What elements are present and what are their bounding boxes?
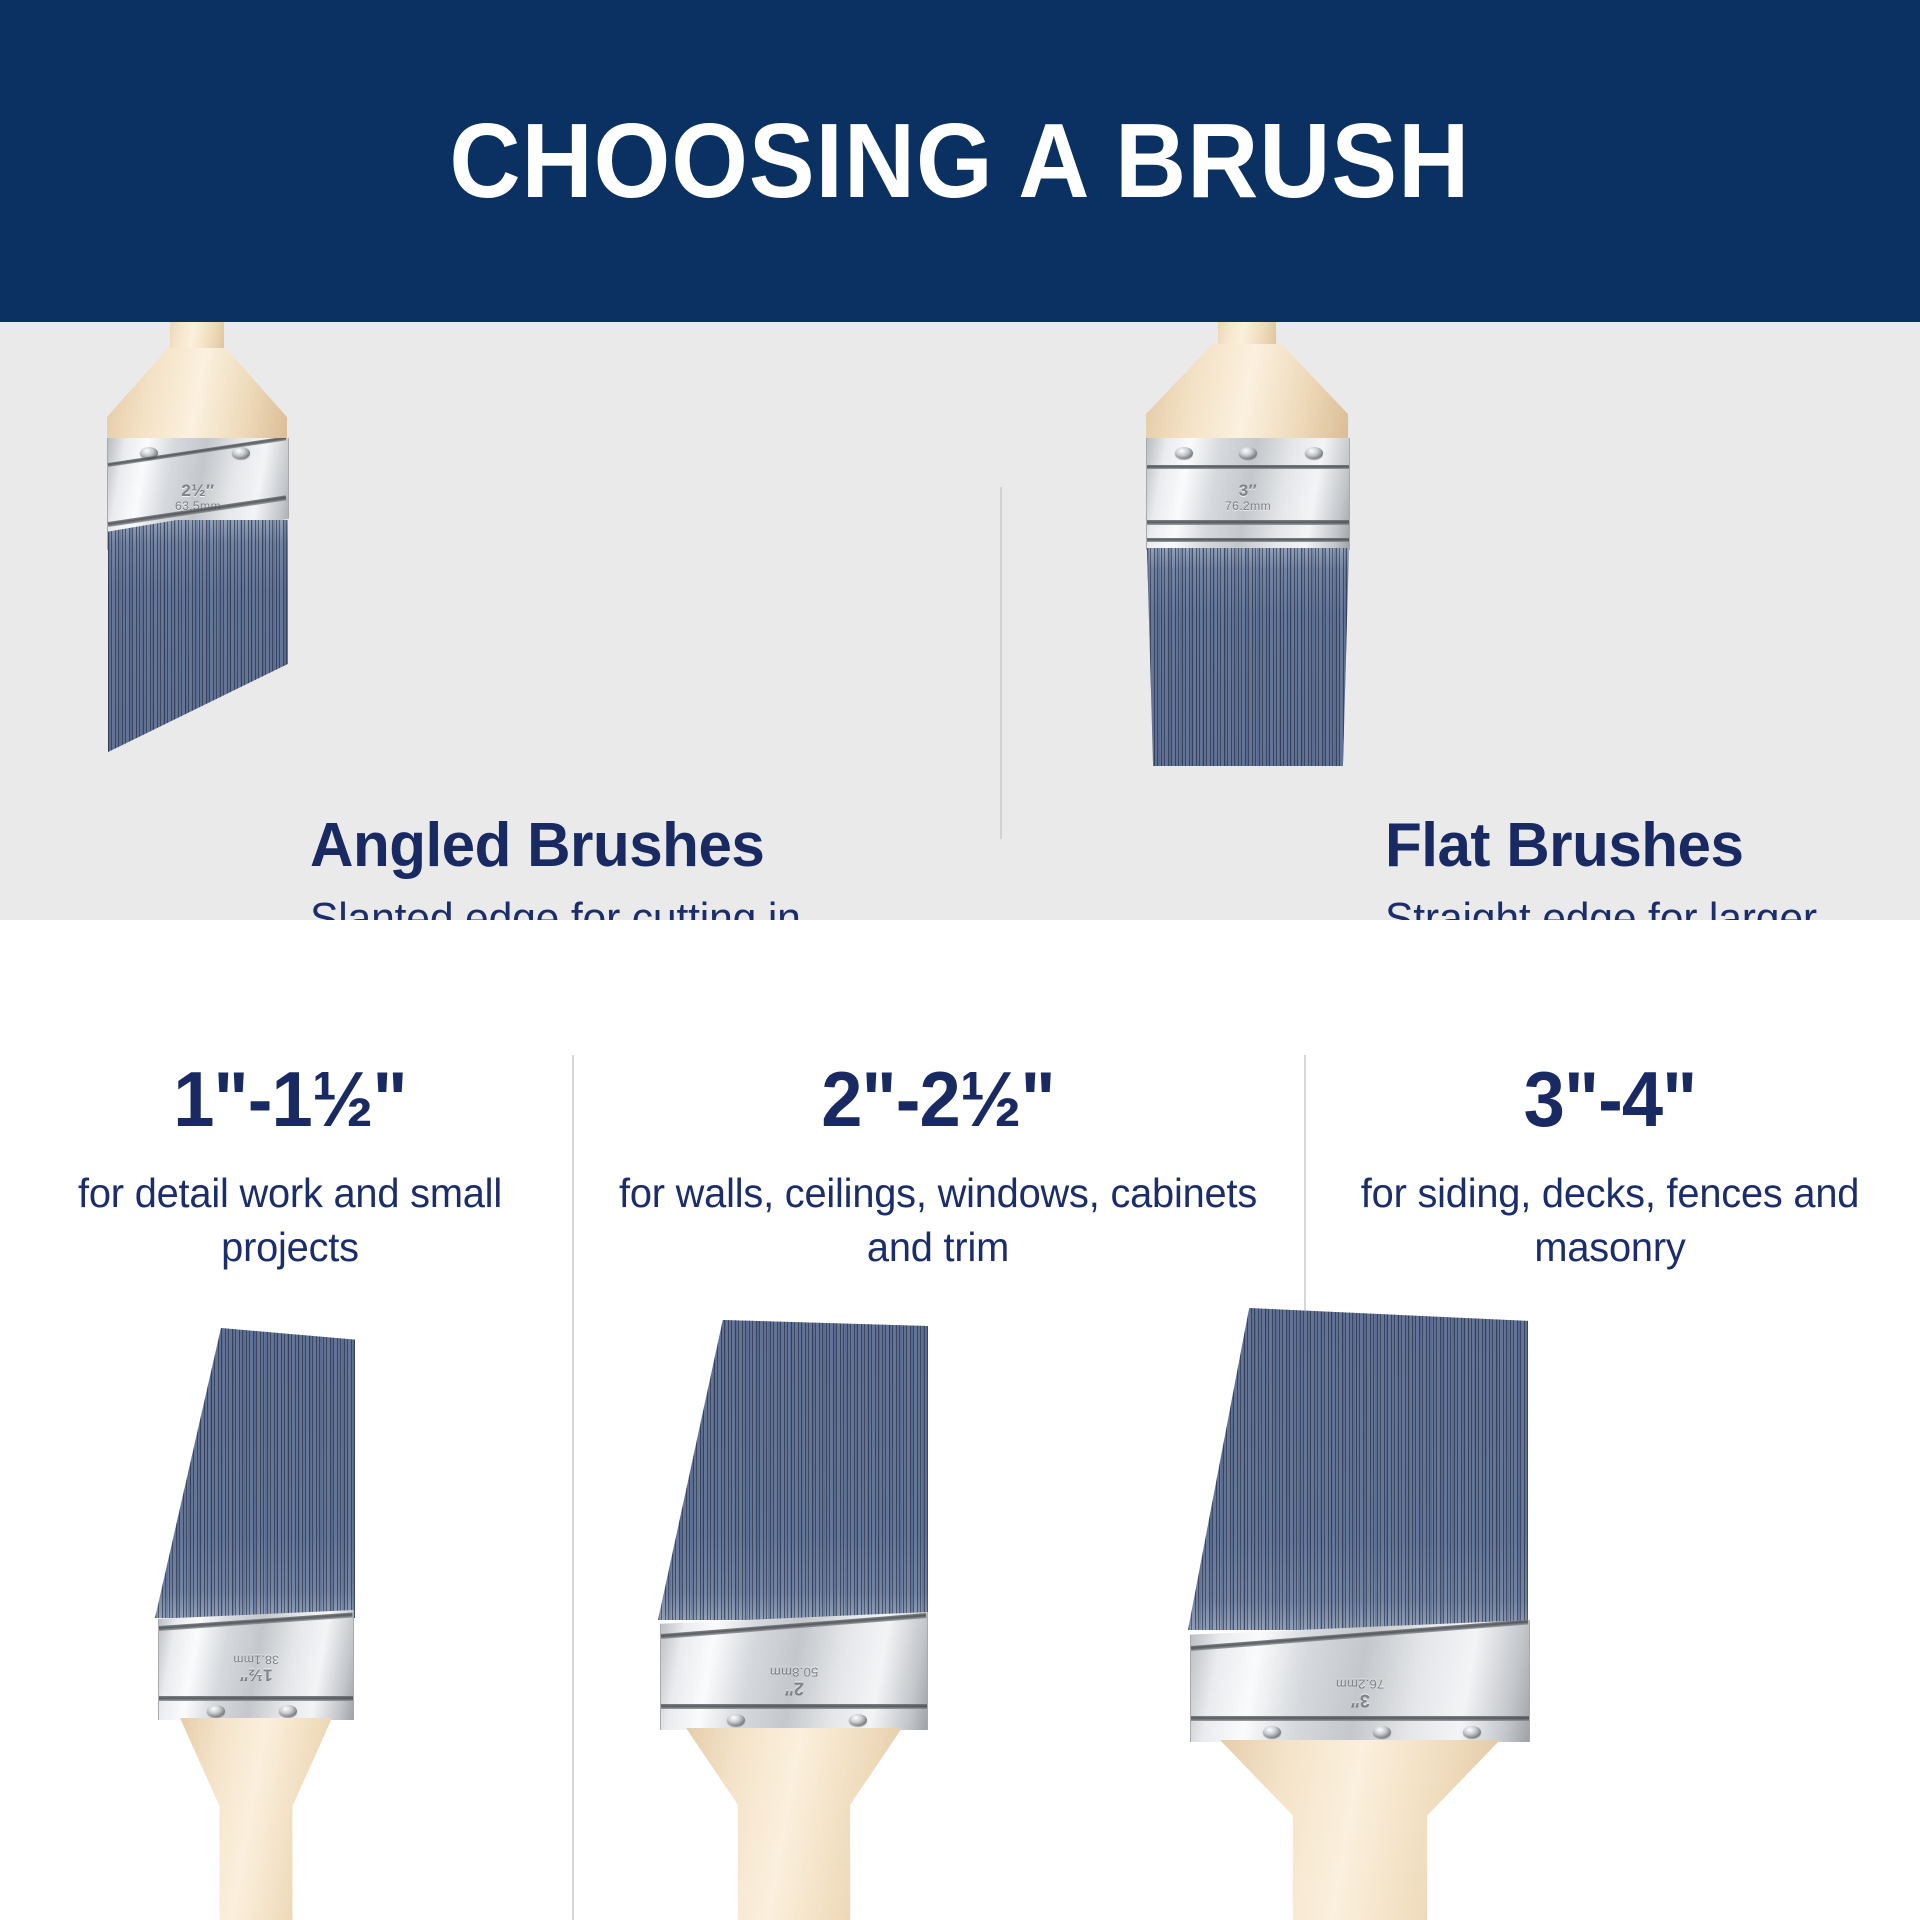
brush-handle [1220, 1740, 1500, 1920]
page-title: CHOOSING A BRUSH [450, 108, 1471, 214]
ferrule-band [1147, 538, 1349, 542]
ferrule-band [1147, 465, 1349, 469]
ferrule-rivet [1463, 1726, 1481, 1738]
flat-brush-image: 3″ 76.2mm [1090, 322, 1390, 768]
ferrule-metric-text: 76.2mm [1191, 1676, 1529, 1690]
ferrule-rivet [849, 1714, 867, 1726]
brush-types-section: 2½″ 63.5mm Angled Brushes Slanted edge f… [0, 322, 1920, 920]
ferrule-metric-text: 76.2mm [1147, 500, 1349, 513]
ferrule-metric-text: 50.8mm [661, 1664, 927, 1678]
flat-brushes-description: Straight edge for larger areas like wall… [1385, 891, 1889, 920]
ferrule-rivet [1263, 1726, 1281, 1738]
ferrule-size-text: 3″ [1239, 481, 1258, 500]
header-banner: CHOOSING A BRUSH [0, 0, 1920, 322]
size-label-small: 1"-1½" [53, 1060, 528, 1138]
angled-brushes-block: Angled Brushes Slanted edge for cutting … [310, 814, 930, 920]
ferrule-stamp: 3″ 76.2mm [1147, 482, 1349, 514]
brush-bristles [1188, 1308, 1528, 1630]
infographic-page: CHOOSING A BRUSH 2½″ 63.5mm [0, 0, 1920, 1920]
size-description-small: for detail work and small projects [48, 1166, 533, 1274]
ferrule-rivet [727, 1714, 745, 1726]
brush-ferrule: 3″ 76.2mm [1146, 438, 1350, 550]
ferrule-rivet [207, 1705, 225, 1717]
size-column-large: 3"-4" for siding, decks, fences and maso… [1330, 1060, 1890, 1274]
size-label-medium: 2"-2½" [617, 1060, 1259, 1138]
ferrule-rivet [1239, 447, 1257, 459]
types-vertical-divider [1000, 487, 1002, 839]
ferrule-size-text: 2½″ [181, 481, 214, 500]
brush-sizes-section: 1"-1½" for detail work and small project… [0, 920, 1920, 1920]
brush-handle [686, 1728, 902, 1920]
angled-brush-image: 2½″ 63.5mm [60, 322, 330, 768]
ferrule-size-text: 2″ [784, 1678, 804, 1698]
flat-brushes-heading: Flat Brushes [1385, 814, 1889, 877]
ferrule-metric-text: 38.1mm [159, 1652, 353, 1665]
brush-image-small: 1½″ 38.1mm [140, 1328, 440, 1920]
ferrule-band [159, 1696, 353, 1701]
brush-neck [107, 348, 287, 444]
ferrule-size-text: 1½″ [239, 1666, 272, 1685]
brush-bristles [155, 1328, 355, 1618]
size-description-large: for siding, decks, fences and masonry [1338, 1166, 1881, 1274]
ferrule-band [108, 436, 287, 467]
size-column-medium: 2"-2½" for walls, ceilings, windows, cab… [600, 1060, 1276, 1274]
ferrule-size-text: 3″ [1350, 1690, 1370, 1710]
size-description-medium: for walls, ceilings, windows, cabinets a… [610, 1166, 1266, 1274]
ferrule-band [1191, 1716, 1529, 1721]
ferrule-rivet [232, 447, 250, 459]
sizes-vertical-divider-1 [572, 1055, 574, 1920]
brush-ferrule: 2″ 50.8mm [660, 1612, 928, 1730]
brush-bristles [658, 1320, 928, 1620]
brush-handle [180, 1718, 332, 1920]
angled-brushes-description: Slanted edge for cutting in around windo… [310, 891, 911, 920]
ferrule-rivet [1373, 1726, 1391, 1738]
size-column-small: 1"-1½" for detail work and small project… [40, 1060, 540, 1274]
ferrule-rivet [1305, 447, 1323, 459]
ferrule-stamp: 2″ 50.8mm [661, 1664, 927, 1697]
brush-image-medium: 2″ 50.8mm [640, 1320, 1020, 1920]
size-label-large: 3"-4" [1344, 1060, 1876, 1138]
ferrule-rivet [1175, 447, 1193, 459]
ferrule-stamp: 1½″ 38.1mm [159, 1652, 353, 1684]
brush-ferrule: 3″ 76.2mm [1190, 1620, 1530, 1742]
ferrule-rivet [279, 1705, 297, 1717]
flat-brushes-block: Flat Brushes Straight edge for larger ar… [1385, 814, 1905, 920]
angled-brushes-heading: Angled Brushes [310, 814, 911, 877]
ferrule-stamp: 3″ 76.2mm [1191, 1676, 1529, 1709]
brush-image-large: 3″ 76.2mm [1160, 1308, 1620, 1920]
brush-neck [1146, 344, 1348, 444]
ferrule-band [1147, 520, 1349, 525]
ferrule-band [661, 1704, 927, 1709]
brush-ferrule: 1½″ 38.1mm [158, 1610, 354, 1720]
brush-bristles [108, 520, 288, 752]
brush-bristles [1147, 548, 1349, 766]
